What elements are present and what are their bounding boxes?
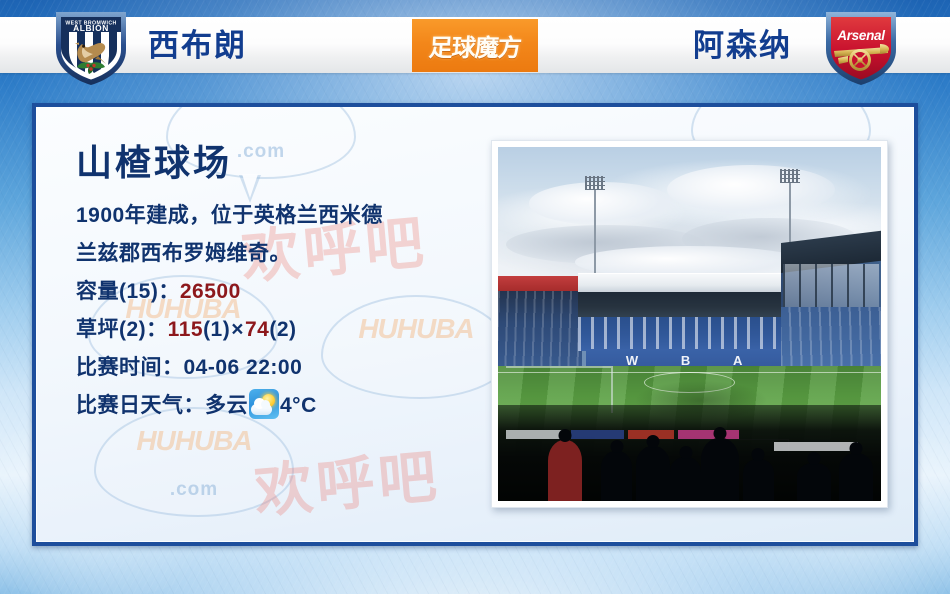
stadium-title: 山楂球场	[76, 139, 506, 187]
stadium-description-line-1: 1900年建成，位于英格兰西米德	[76, 197, 506, 235]
svg-text:Arsenal: Arsenal	[836, 28, 885, 43]
photo-main-stand-seats	[578, 317, 792, 351]
spectator-4	[670, 457, 701, 501]
photo-stand-right	[781, 243, 881, 378]
match-header: WEST BROMWICH ALBION 西布朗 足球魔方	[0, 0, 950, 90]
spectator-1	[548, 440, 582, 501]
brand-logo[interactable]: 足球魔方	[412, 19, 538, 72]
stadium-photo: W B A	[498, 147, 881, 501]
pitch-width-value: 74	[245, 318, 269, 341]
weather-temperature: 4°C	[280, 394, 317, 417]
match-time-value: 04-06 22:00	[184, 356, 303, 379]
spectator-3	[636, 446, 670, 501]
stadium-info-text: 山楂球场 1900年建成，位于英格兰西米德 兰兹郡西布罗姆维奇。 容量(15)：…	[76, 139, 506, 425]
spectator-5	[701, 438, 739, 501]
pitch-length-value: 115	[168, 318, 203, 341]
home-team-name: 西布朗	[148, 25, 247, 67]
partly-cloudy-icon	[249, 389, 279, 419]
capacity-label: 容量(15)：	[76, 280, 180, 303]
weather-row: 比赛日天气：多云4°C	[76, 387, 506, 425]
photo-main-stand-roof	[578, 273, 792, 294]
pitch-length-rank: (1)	[203, 318, 230, 341]
away-team-name: 阿森纳	[693, 25, 792, 67]
multiply-sign: ×	[230, 318, 245, 341]
spectator-2	[601, 451, 632, 501]
brand-logo-text: 足球魔方	[428, 28, 522, 63]
stadium-description-line-2: 兰兹郡西布罗姆维奇。	[76, 235, 506, 273]
arsenal-crest[interactable]: Arsenal	[818, 6, 904, 88]
spectator-6	[743, 459, 774, 501]
match-time-row: 比赛时间：04-06 22:00	[76, 349, 506, 387]
photo-stand-left	[498, 276, 582, 372]
photo-foreground-crowd	[498, 405, 881, 501]
spectator-8	[839, 453, 873, 501]
weather-condition: 多云	[205, 394, 248, 417]
stadium-info-panel: .com .com HUHUBA HUHUBA HUHUBA .com 欢呼吧 …	[32, 103, 918, 546]
pitch-label: 草坪(2)：	[76, 318, 168, 341]
match-time-label: 比赛时间：	[76, 356, 184, 379]
wba-crest-icon: WEST BROMWICH ALBION	[48, 6, 134, 88]
advert-board-4	[678, 430, 739, 439]
pitch-size-row: 草坪(2)：115(1)×74(2)	[76, 311, 506, 349]
stadium-photo-frame[interactable]: W B A	[491, 140, 888, 508]
spectator-7	[797, 463, 831, 501]
pitch-width-rank: (2)	[269, 318, 296, 341]
advert-board-5	[774, 442, 858, 451]
west-bromwich-albion-crest[interactable]: WEST BROMWICH ALBION	[48, 6, 134, 88]
floodlight-pylon-left	[594, 189, 596, 281]
photo-main-stand-shade	[578, 292, 792, 317]
weather-label: 比赛日天气：	[76, 394, 205, 417]
watermark-com-text-3: .com	[96, 479, 292, 501]
watermark-hanzi-bottom: 欢呼吧	[251, 429, 444, 529]
photo-cloud-2	[667, 165, 836, 215]
advert-board-2	[571, 430, 625, 439]
capacity-value: 26500	[180, 280, 241, 303]
svg-text:ALBION: ALBION	[73, 23, 109, 33]
arsenal-crest-icon: Arsenal	[818, 6, 904, 88]
watermark-huhuba-text-3: HUHUBA	[96, 425, 292, 457]
capacity-row: 容量(15)：26500	[76, 273, 506, 311]
